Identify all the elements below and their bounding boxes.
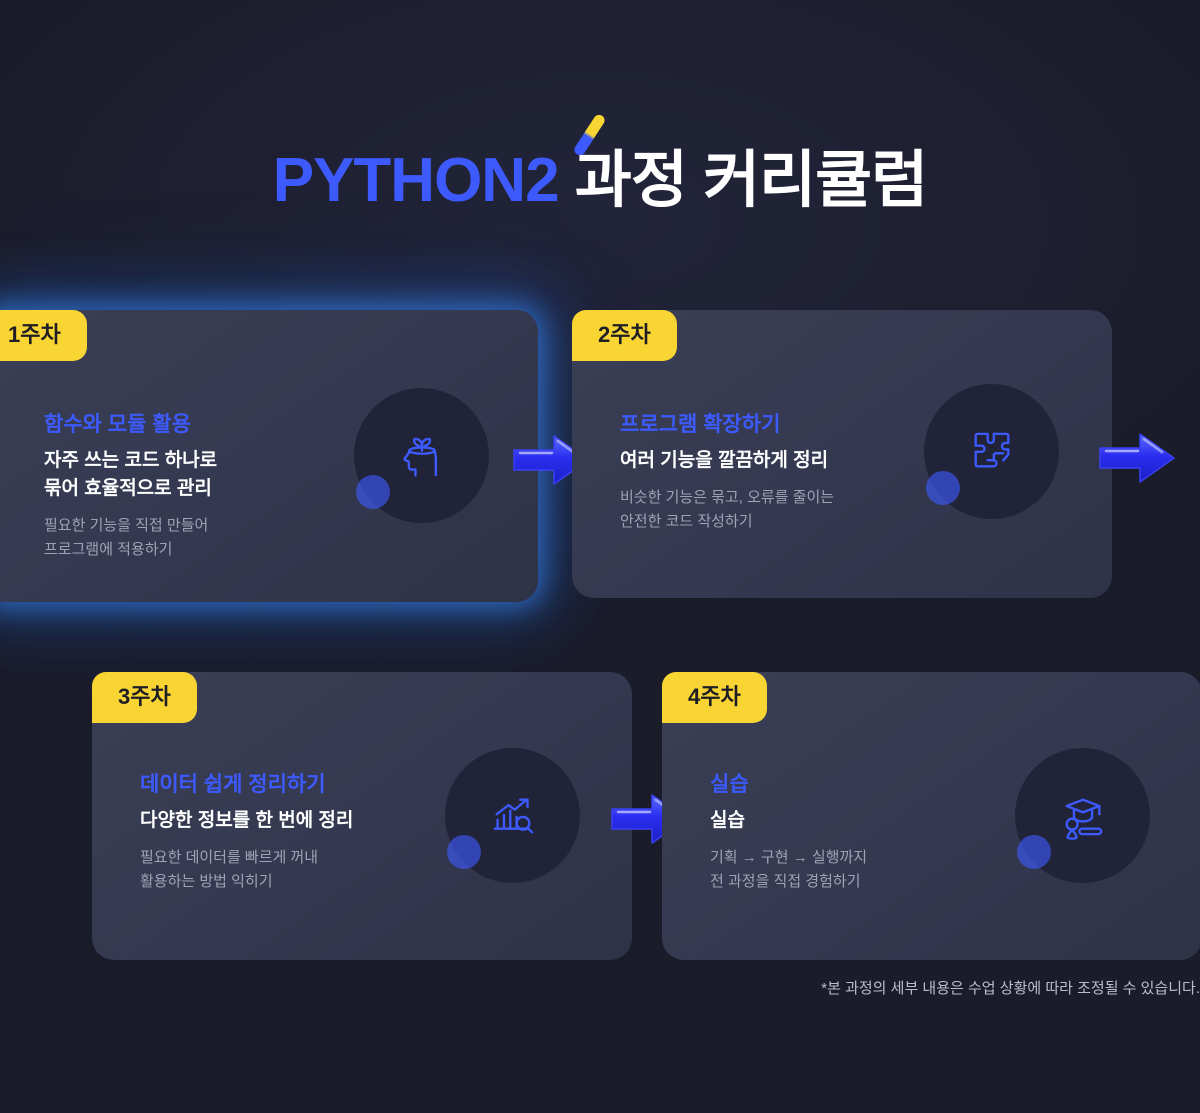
page-title: PYTHON2 과정 커리큘럼 [0,150,1200,212]
week-heading-3: 데이터 쉽게 정리하기 [140,772,440,798]
title-highlight: PYTHON2 [273,146,559,215]
week-heading-4: 실습 [710,772,1010,798]
graduation-cap-icon [1015,748,1150,883]
week-icon-circle-2 [924,384,1059,519]
title-rest: 과정 커리큘럼 [559,146,928,215]
week-badge-1: 1주차 [0,310,87,361]
week-heading-2: 프로그램 확장하기 [620,412,910,438]
week-icon-circle-4 [1015,748,1150,883]
week-badge-3: 3주차 [92,672,197,723]
week-main-3: 다양한 정보를 한 번에 정리 [140,807,440,835]
week-sub-3: 필요한 데이터를 빠르게 꺼내 활용하는 방법 익히기 [140,846,440,893]
week-icon-circle-1 [354,388,489,523]
week-sub-4: 기획 → 구현 → 실행까지 전 과정을 직접 경험하기 [710,846,1010,893]
week-badge-2: 2주차 [572,310,677,361]
week-main-4: 실습 [710,807,1010,835]
week-card-3[interactable]: 3주차 데이터 쉽게 정리하기 다양한 정보를 한 번에 정리 필요한 데이터를… [92,672,632,960]
week-sub-2: 비슷한 기능은 묶고, 오류를 줄이는 안전한 코드 작성하기 [620,486,910,533]
week-main-1: 자주 쓰는 코드 하나로 묶어 효율적으로 관리 [44,447,294,503]
week-icon-circle-3 [445,748,580,883]
chart-search-icon [445,748,580,883]
week-card-2[interactable]: 2주차 프로그램 확장하기 여러 기능을 깔끔하게 정리 비슷한 기능은 묶고,… [572,310,1112,598]
week-card-1[interactable]: 1주차 함수와 모듈 활용 자주 쓰는 코드 하나로 묶어 효율적으로 관리 필… [0,310,538,602]
week-main-2: 여러 기능을 깔끔하게 정리 [620,447,910,475]
week-sub-1: 필요한 기능을 직접 만들어 프로그램에 적용하기 [44,514,294,561]
footnote: *본 과정의 세부 내용은 수업 상황에 따라 조정될 수 있습니다. [821,977,1200,998]
head-sprout-icon [354,388,489,523]
puzzle-pieces-icon [924,384,1059,519]
week-badge-4: 4주차 [662,672,767,723]
week-heading-1: 함수와 모듈 활용 [44,412,294,438]
week-card-4[interactable]: 4주차 실습 실습 기획 → 구현 → 실행까지 전 과정을 직접 경험하기 [662,672,1200,960]
arrow-week2-continue [1094,423,1180,493]
